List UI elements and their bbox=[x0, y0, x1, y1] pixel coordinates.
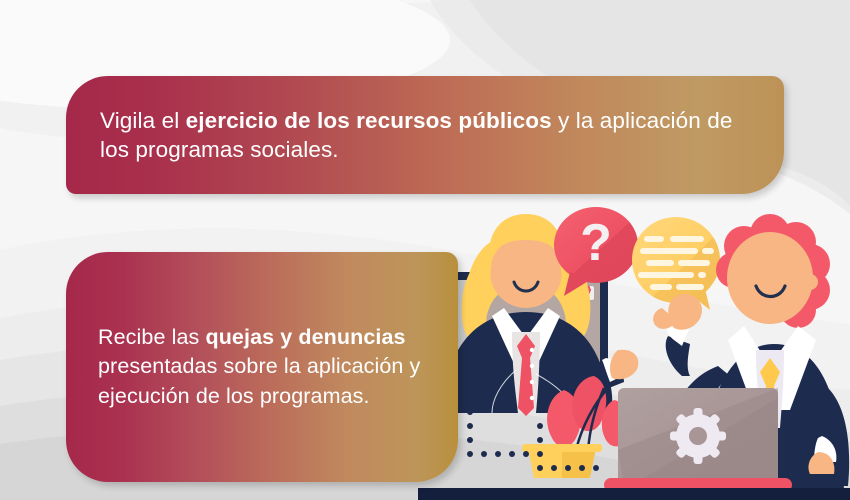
illustration-two-officials-video-call: ? bbox=[418, 200, 850, 500]
banner-vigilancia: Vigila el ejercicio de los recursos públ… bbox=[66, 76, 784, 194]
banner-quejas: Recibe las quejas y denuncias presentada… bbox=[66, 252, 458, 482]
banner-quejas-text: Recibe las quejas y denuncias presentada… bbox=[98, 323, 432, 410]
laptop-with-gear-icon bbox=[604, 388, 792, 492]
gear-icon bbox=[670, 408, 726, 464]
question-mark-glyph: ? bbox=[580, 214, 612, 272]
banner-vigilancia-text: Vigila el ejercicio de los recursos públ… bbox=[100, 106, 750, 165]
dark-desk bbox=[418, 488, 850, 500]
infographic-canvas: Vigila el ejercicio de los recursos públ… bbox=[0, 0, 850, 500]
